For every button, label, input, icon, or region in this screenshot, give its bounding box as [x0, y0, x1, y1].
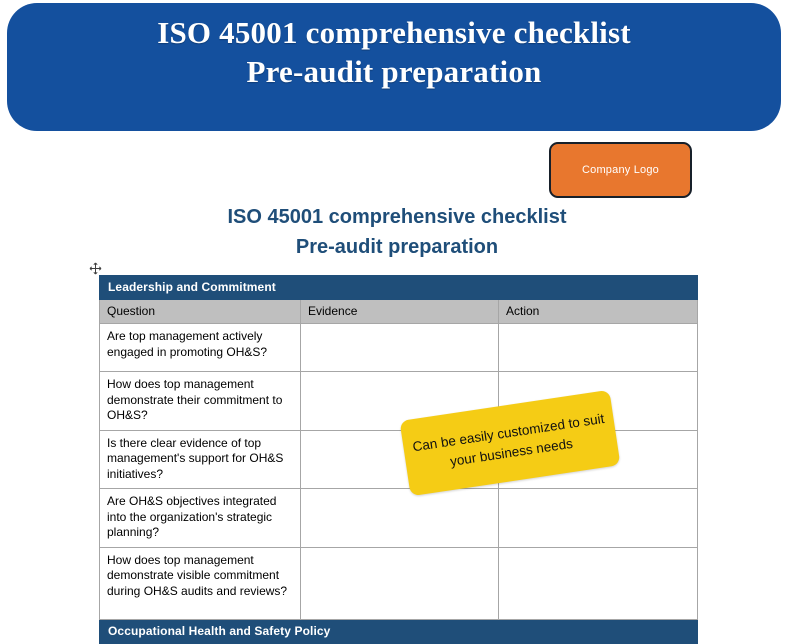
table-section-header-row: Occupational Health and Safety Policy: [100, 619, 698, 643]
action-cell[interactable]: [499, 324, 698, 372]
question-cell: How does top management demonstrate visi…: [100, 547, 301, 619]
sticky-note-text: Can be easily customized to suit your bu…: [402, 408, 618, 479]
section-title-ohs-policy: Occupational Health and Safety Policy: [100, 619, 698, 643]
section-title-leadership: Leadership and Commitment: [100, 276, 698, 300]
document-heading-line-1: ISO 45001 comprehensive checklist: [97, 202, 697, 232]
table-row: Are OH&S objectives integrated into the …: [100, 489, 698, 548]
column-header-evidence: Evidence: [301, 300, 499, 324]
evidence-cell[interactable]: [301, 547, 499, 619]
document-heading-line-2: Pre-audit preparation: [97, 232, 697, 262]
title-banner: ISO 45001 comprehensive checklist Pre-au…: [7, 3, 781, 131]
table-row: Are top management actively engaged in p…: [100, 324, 698, 372]
column-header-action: Action: [499, 300, 698, 324]
move-handle-icon[interactable]: [89, 262, 102, 275]
evidence-cell[interactable]: [301, 489, 499, 548]
banner-title-line-2: Pre-audit preparation: [247, 52, 542, 91]
action-cell[interactable]: [499, 489, 698, 548]
company-logo-box[interactable]: Company Logo: [549, 142, 692, 198]
question-cell: How does top management demonstrate thei…: [100, 372, 301, 431]
banner-title-line-1: ISO 45001 comprehensive checklist: [157, 13, 631, 52]
question-cell: Is there clear evidence of top managemen…: [100, 430, 301, 489]
document-heading: ISO 45001 comprehensive checklist Pre-au…: [97, 202, 697, 262]
table-section-header-row: Leadership and Commitment: [100, 276, 698, 300]
evidence-cell[interactable]: [301, 324, 499, 372]
question-cell: Are OH&S objectives integrated into the …: [100, 489, 301, 548]
company-logo-label: Company Logo: [582, 164, 659, 176]
question-cell: Are top management actively engaged in p…: [100, 324, 301, 372]
column-header-question: Question: [100, 300, 301, 324]
table-column-header-row: Question Evidence Action: [100, 300, 698, 324]
action-cell[interactable]: [499, 547, 698, 619]
table-row: How does top management demonstrate visi…: [100, 547, 698, 619]
